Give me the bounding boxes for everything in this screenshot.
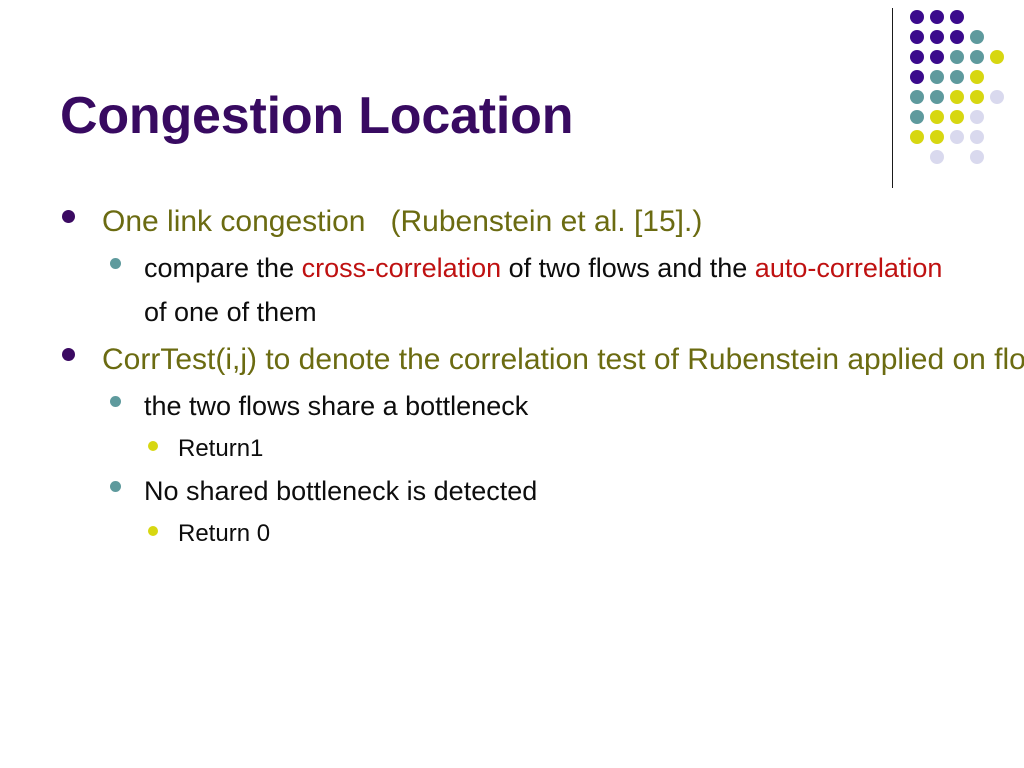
bullet-text-share-bottleneck: the two flows share a bottleneck (144, 385, 956, 429)
decorative-dot (930, 30, 944, 44)
decorative-dot (950, 30, 964, 44)
segment-plain-3: of one of them (144, 297, 317, 327)
decorative-dot (970, 130, 984, 144)
decorative-dot (970, 110, 984, 124)
bullet-list: One link congestion (Rubenstein et al. [… (56, 198, 956, 554)
decorative-dot (910, 30, 924, 44)
bullet-item-no-shared-bottleneck: No shared bottleneck is detected (56, 470, 956, 514)
segment-plain-2: of two flows and the (501, 253, 755, 283)
decorative-dot (930, 130, 944, 144)
bullet-text-compare-correlation: compare the cross-correlation of two flo… (144, 247, 956, 334)
bullet-marker-level2-icon (110, 396, 121, 407)
decorative-dot (950, 130, 964, 144)
decorative-dot (990, 90, 1004, 104)
decorative-dot (930, 50, 944, 64)
decorative-dot (950, 10, 964, 24)
decorative-dot (950, 90, 964, 104)
decorative-dot (910, 90, 924, 104)
page-title: Congestion Location (60, 88, 860, 144)
segment-cross-correlation: cross-correlation (302, 253, 502, 283)
decorative-dot (930, 10, 944, 24)
decorative-dot (950, 50, 964, 64)
decorative-dot (930, 150, 944, 164)
decorative-dot (910, 70, 924, 84)
decorative-dot (970, 50, 984, 64)
bullet-item-share-bottleneck: the two flows share a bottleneck (56, 385, 956, 429)
bullet-marker-level1-icon (62, 348, 75, 361)
decorative-dot (910, 130, 924, 144)
decorative-dot (970, 70, 984, 84)
segment-plain-1: compare the (144, 253, 302, 283)
dot-grid (910, 10, 1022, 180)
bullet-item-return-zero: Return 0 (56, 515, 956, 554)
bullet-item-one-link-congestion: One link congestion (Rubenstein et al. [… (56, 198, 956, 245)
decorative-dot (950, 110, 964, 124)
bullet-text-corrtest-definition: CorrTest(i,j) to denote the correlation … (102, 336, 956, 383)
decorative-dot (970, 90, 984, 104)
decorative-dot (930, 70, 944, 84)
segment-auto-correlation: auto-correlation (755, 253, 943, 283)
bullet-marker-level2-icon (110, 258, 121, 269)
decorative-dot (930, 90, 944, 104)
bullet-text-no-shared-bottleneck: No shared bottleneck is detected (144, 470, 956, 514)
decorative-dot-motif (884, 0, 1024, 200)
bullet-marker-level1-icon (62, 210, 75, 223)
bullet-text-return-one: Return1 (178, 430, 956, 469)
decorative-dot (910, 10, 924, 24)
decorative-dot (930, 110, 944, 124)
bullet-marker-level3-icon (148, 526, 158, 536)
slide-canvas: Congestion Location One link congestion … (0, 0, 1024, 768)
bullet-text-one-link-congestion: One link congestion (Rubenstein et al. [… (102, 198, 956, 245)
bullet-item-compare-correlation: compare the cross-correlation of two flo… (56, 247, 956, 334)
decorative-dot (950, 70, 964, 84)
vertical-rule-divider (892, 8, 893, 188)
bullet-text-return-zero: Return 0 (178, 515, 956, 554)
bullet-marker-level2-icon (110, 481, 121, 492)
decorative-dot (970, 150, 984, 164)
bullet-item-return-one: Return1 (56, 430, 956, 469)
decorative-dot (970, 30, 984, 44)
decorative-dot (910, 50, 924, 64)
bullet-item-corrtest-definition: CorrTest(i,j) to denote the correlation … (56, 336, 956, 383)
decorative-dot (990, 50, 1004, 64)
decorative-dot (910, 110, 924, 124)
bullet-marker-level3-icon (148, 441, 158, 451)
